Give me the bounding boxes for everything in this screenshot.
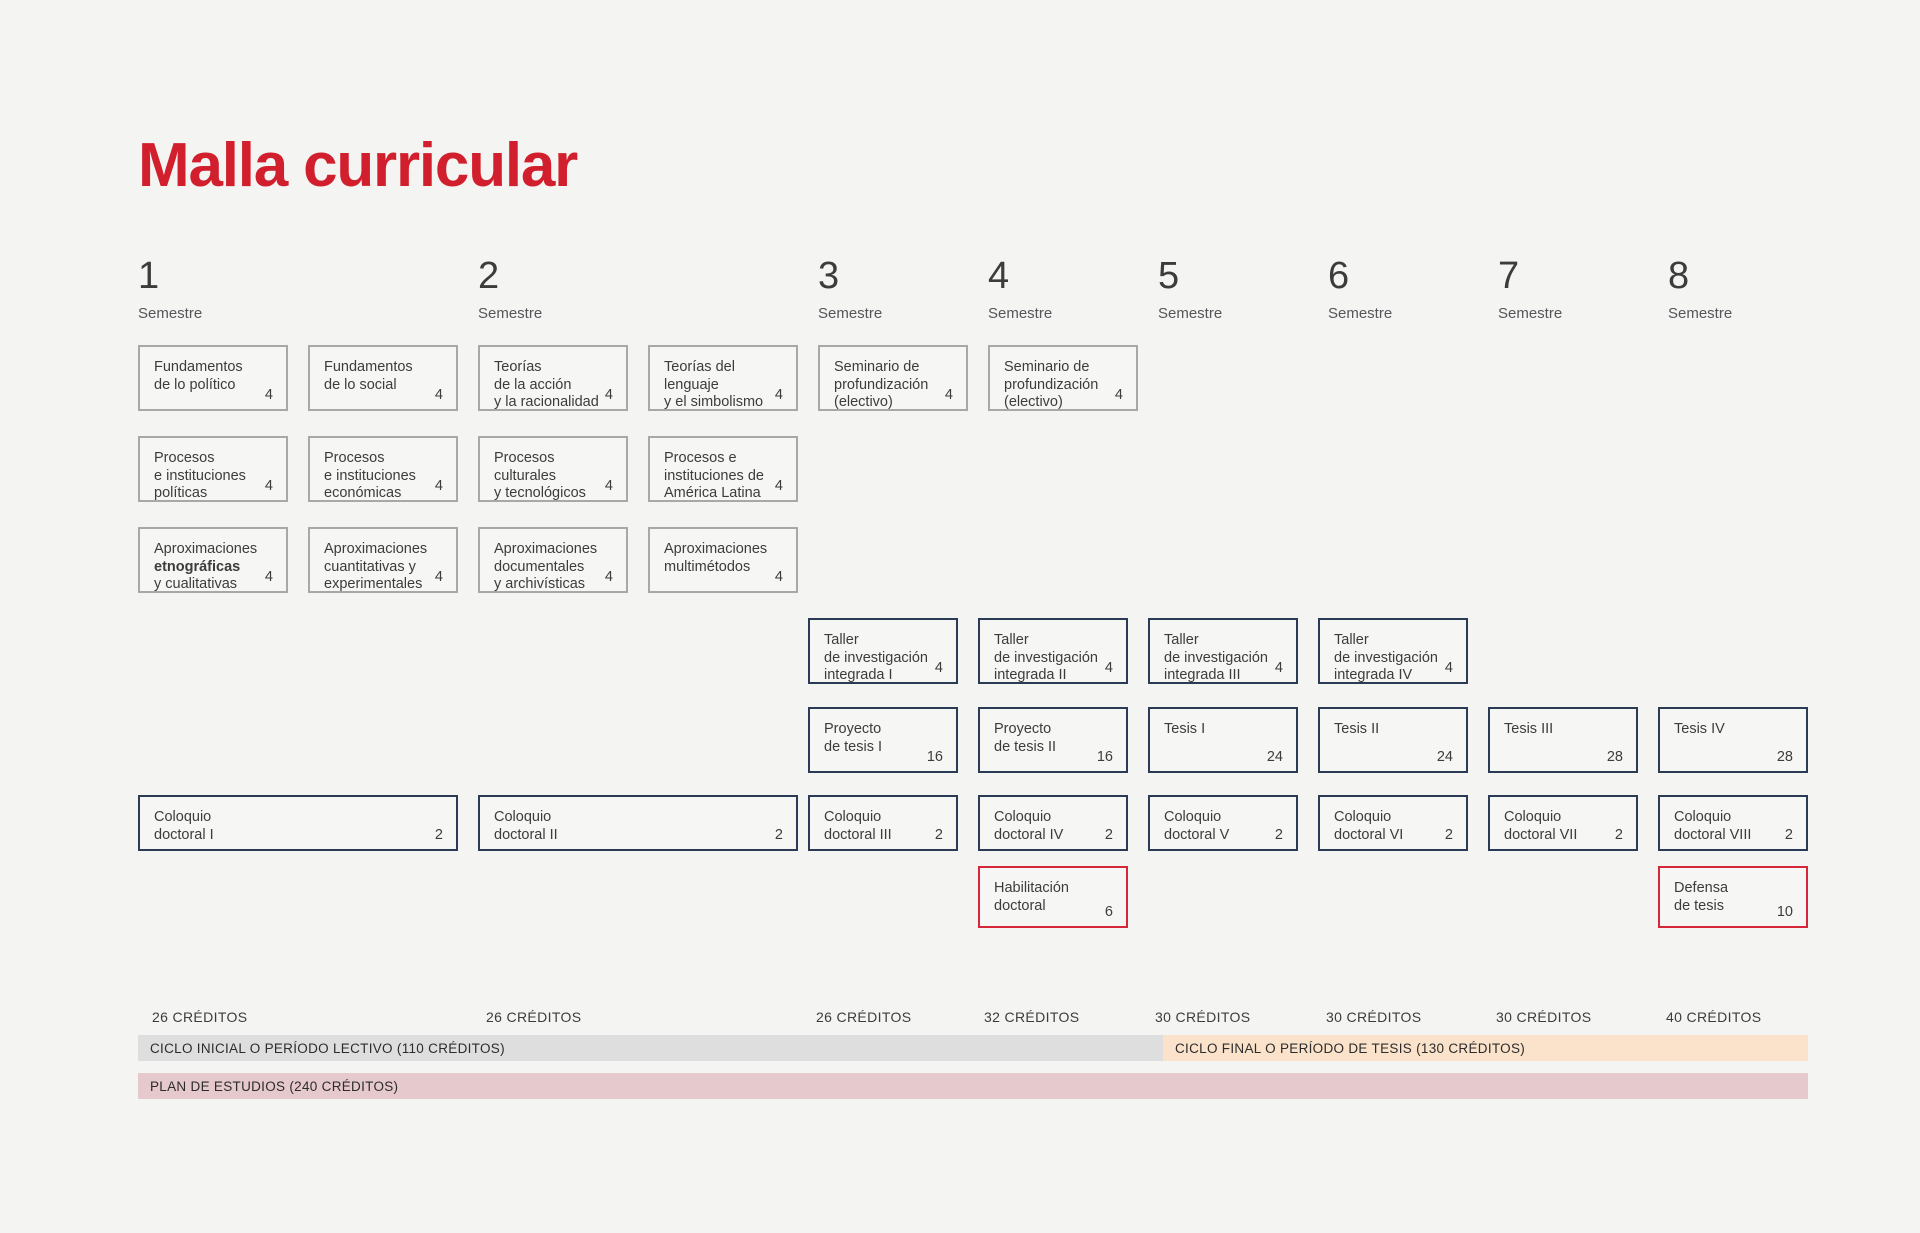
course-box-taller-investigacion-3[interactable]: Taller de investigación integrada III 4 — [1148, 618, 1298, 684]
course-box-aproximaciones-cuantitativas[interactable]: Aproximaciones cuantitativas y experimen… — [308, 527, 458, 593]
semester-credits-7: 30 CRÉDITOS — [1496, 1009, 1591, 1025]
course-box-tesis-2[interactable]: Tesis II 24 — [1318, 707, 1468, 773]
course-box-coloquio-doctoral-4[interactable]: Coloquio doctoral IV 2 — [978, 795, 1128, 851]
course-title: Seminario de profundización (electivo) — [834, 359, 952, 412]
course-title: Coloquio doctoral III — [824, 809, 942, 844]
course-box-aproximaciones-documentales[interactable]: Aproximaciones documentales y archivísti… — [478, 527, 628, 593]
course-box-aproximaciones-etnograficas[interactable]: Aproximacionesetnográficasy cualitativas… — [138, 527, 288, 593]
course-credits: 28 — [1777, 750, 1793, 765]
course-box-coloquio-doctoral-8[interactable]: Coloquio doctoral VIII 2 — [1658, 795, 1808, 851]
course-box-coloquio-doctoral-3[interactable]: Coloquio doctoral III 2 — [808, 795, 958, 851]
course-box-proyecto-tesis-1[interactable]: Proyecto de tesis I 16 — [808, 707, 958, 773]
course-title: Coloquio doctoral IV — [994, 809, 1112, 844]
course-credits: 4 — [435, 388, 443, 403]
course-credits: 4 — [1105, 661, 1113, 676]
course-box-procesos-economicas[interactable]: Procesos e instituciones económicas 4 — [308, 436, 458, 502]
band-plan-estudios: PLAN DE ESTUDIOS (240 CRÉDITOS) — [138, 1073, 1808, 1099]
course-credits: 2 — [1275, 828, 1283, 843]
course-title: Coloquio doctoral I — [154, 809, 442, 844]
course-box-taller-investigacion-4[interactable]: Taller de investigación integrada IV 4 — [1318, 618, 1468, 684]
course-credits: 4 — [1115, 388, 1123, 403]
band-label: PLAN DE ESTUDIOS (240 CRÉDITOS) — [150, 1079, 398, 1094]
course-title: Proyecto de tesis II — [994, 721, 1112, 756]
course-credits: 28 — [1607, 750, 1623, 765]
band-ciclo-final: CICLO FINAL O PERÍODO DE TESIS (130 CRÉD… — [1163, 1035, 1808, 1061]
semester-label: Semestre — [478, 306, 678, 321]
course-box-coloquio-doctoral-1[interactable]: Coloquio doctoral I 2 — [138, 795, 458, 851]
course-box-tesis-3[interactable]: Tesis III 28 — [1488, 707, 1638, 773]
semester-label: Semestre — [138, 306, 338, 321]
course-title: Taller de investigación integrada I — [824, 632, 942, 685]
course-box-fundamentos-politico[interactable]: Fundamentos de lo político 4 — [138, 345, 288, 411]
course-title: Tesis IV — [1674, 721, 1792, 739]
course-title: Coloquio doctoral V — [1164, 809, 1282, 844]
course-title: Taller de investigación integrada II — [994, 632, 1112, 685]
semester-credits-5: 30 CRÉDITOS — [1155, 1009, 1250, 1025]
course-title: Tesis I — [1164, 721, 1282, 739]
course-title: Coloquio doctoral II — [494, 809, 782, 844]
course-credits: 4 — [945, 388, 953, 403]
course-title: Teorías del lenguaje y el simbolismo — [664, 359, 782, 412]
malla-curricular-diagram: Malla curricular 1 Semestre 2 Semestre 3… — [0, 0, 1920, 1233]
course-credits: 2 — [1615, 828, 1623, 843]
course-box-seminario-profundizacion-1[interactable]: Seminario de profundización (electivo) 4 — [818, 345, 968, 411]
course-credits: 4 — [775, 479, 783, 494]
course-box-procesos-culturales[interactable]: Procesos culturales y tecnológicos 4 — [478, 436, 628, 502]
course-title: Seminario de profundización (electivo) — [1004, 359, 1122, 412]
course-credits: 2 — [935, 828, 943, 843]
course-title: Aproximaciones multimétodos — [664, 541, 782, 576]
course-title: Taller de investigación integrada IV — [1334, 632, 1452, 685]
semester-header-1: 1 Semestre — [138, 257, 338, 321]
course-credits: 6 — [1105, 905, 1113, 920]
semester-credits-1: 26 CRÉDITOS — [152, 1009, 247, 1025]
semester-header-2: 2 Semestre — [478, 257, 678, 321]
course-credits: 4 — [605, 479, 613, 494]
course-title: Aproximaciones documentales y archivísti… — [494, 541, 612, 594]
page-title: Malla curricular — [138, 135, 577, 197]
course-title: Tesis III — [1504, 721, 1622, 739]
course-credits: 16 — [1097, 750, 1113, 765]
course-credits: 2 — [1105, 828, 1113, 843]
course-box-coloquio-doctoral-5[interactable]: Coloquio doctoral V 2 — [1148, 795, 1298, 851]
course-box-taller-investigacion-1[interactable]: Taller de investigación integrada I 4 — [808, 618, 958, 684]
course-box-taller-investigacion-2[interactable]: Taller de investigación integrada II 4 — [978, 618, 1128, 684]
course-box-teorias-lenguaje[interactable]: Teorías del lenguaje y el simbolismo 4 — [648, 345, 798, 411]
semester-number: 1 — [138, 257, 338, 295]
semester-header-8: 8 Semestre — [1668, 257, 1868, 321]
course-credits: 2 — [1785, 828, 1793, 843]
course-title: Procesos e instituciones de América Lati… — [664, 450, 782, 503]
course-credits: 4 — [775, 570, 783, 585]
course-box-tesis-4[interactable]: Tesis IV 28 — [1658, 707, 1808, 773]
course-credits: 24 — [1437, 750, 1453, 765]
course-credits: 4 — [265, 479, 273, 494]
course-title: Aproximaciones cuantitativas y experimen… — [324, 541, 442, 594]
course-title: Teorías de la acción y la racionalidad — [494, 359, 612, 412]
course-credits: 4 — [775, 388, 783, 403]
course-credits: 4 — [605, 388, 613, 403]
semester-label: Semestre — [1668, 306, 1868, 321]
course-title: Procesos e instituciones económicas — [324, 450, 442, 503]
semester-credits-3: 26 CRÉDITOS — [816, 1009, 911, 1025]
course-title: Procesos culturales y tecnológicos — [494, 450, 612, 503]
course-title: Proyecto de tesis I — [824, 721, 942, 756]
course-credits: 4 — [265, 388, 273, 403]
semester-number: 8 — [1668, 257, 1868, 295]
course-box-fundamentos-social[interactable]: Fundamentos de lo social 4 — [308, 345, 458, 411]
semester-credits-8: 40 CRÉDITOS — [1666, 1009, 1761, 1025]
course-credits: 4 — [1275, 661, 1283, 676]
course-credits: 10 — [1777, 905, 1793, 920]
course-credits: 2 — [775, 828, 783, 843]
course-box-proyecto-tesis-2[interactable]: Proyecto de tesis II 16 — [978, 707, 1128, 773]
band-ciclo-inicial: CICLO INICIAL O PERÍODO LECTIVO (110 CRÉ… — [138, 1035, 1163, 1061]
course-box-procesos-politicas[interactable]: Procesos e instituciones políticas 4 — [138, 436, 288, 502]
course-credits: 24 — [1267, 750, 1283, 765]
course-box-tesis-1[interactable]: Tesis I 24 — [1148, 707, 1298, 773]
semester-credits-6: 30 CRÉDITOS — [1326, 1009, 1421, 1025]
course-box-defensa-tesis[interactable]: Defensa de tesis 10 — [1658, 866, 1808, 928]
band-label: CICLO FINAL O PERÍODO DE TESIS (130 CRÉD… — [1175, 1041, 1525, 1056]
course-title: Taller de investigación integrada III — [1164, 632, 1282, 685]
course-title: Coloquio doctoral VII — [1504, 809, 1622, 844]
course-credits: 4 — [1445, 661, 1453, 676]
course-credits: 16 — [927, 750, 943, 765]
course-title: Fundamentos de lo político — [154, 359, 272, 394]
course-credits: 4 — [435, 479, 443, 494]
course-title: Aproximacionesetnográficasy cualitativas — [154, 541, 272, 594]
course-box-seminario-profundizacion-2[interactable]: Seminario de profundización (electivo) 4 — [988, 345, 1138, 411]
band-label: CICLO INICIAL O PERÍODO LECTIVO (110 CRÉ… — [150, 1041, 505, 1056]
course-box-procesos-america-latina[interactable]: Procesos e instituciones de América Lati… — [648, 436, 798, 502]
course-credits: 2 — [1445, 828, 1453, 843]
course-box-habilitacion-doctoral[interactable]: Habilitación doctoral 6 — [978, 866, 1128, 928]
semester-credits-2: 26 CRÉDITOS — [486, 1009, 581, 1025]
course-credits: 4 — [935, 661, 943, 676]
course-box-teorias-accion[interactable]: Teorías de la acción y la racionalidad 4 — [478, 345, 628, 411]
semester-credits-4: 32 CRÉDITOS — [984, 1009, 1079, 1025]
semester-number: 2 — [478, 257, 678, 295]
course-credits: 4 — [265, 570, 273, 585]
course-title: Coloquio doctoral VI — [1334, 809, 1452, 844]
course-title: Fundamentos de lo social — [324, 359, 442, 394]
course-title: Defensa de tesis — [1674, 880, 1792, 915]
course-credits: 4 — [605, 570, 613, 585]
course-box-aproximaciones-multimetodos[interactable]: Aproximaciones multimétodos 4 — [648, 527, 798, 593]
course-title: Tesis II — [1334, 721, 1452, 739]
course-title: Coloquio doctoral VIII — [1674, 809, 1792, 844]
course-credits: 2 — [435, 828, 443, 843]
course-title: Habilitación doctoral — [994, 880, 1112, 915]
course-box-coloquio-doctoral-2[interactable]: Coloquio doctoral II 2 — [478, 795, 798, 851]
course-title: Procesos e instituciones políticas — [154, 450, 272, 503]
course-box-coloquio-doctoral-6[interactable]: Coloquio doctoral VI 2 — [1318, 795, 1468, 851]
course-credits: 4 — [435, 570, 443, 585]
course-box-coloquio-doctoral-7[interactable]: Coloquio doctoral VII 2 — [1488, 795, 1638, 851]
